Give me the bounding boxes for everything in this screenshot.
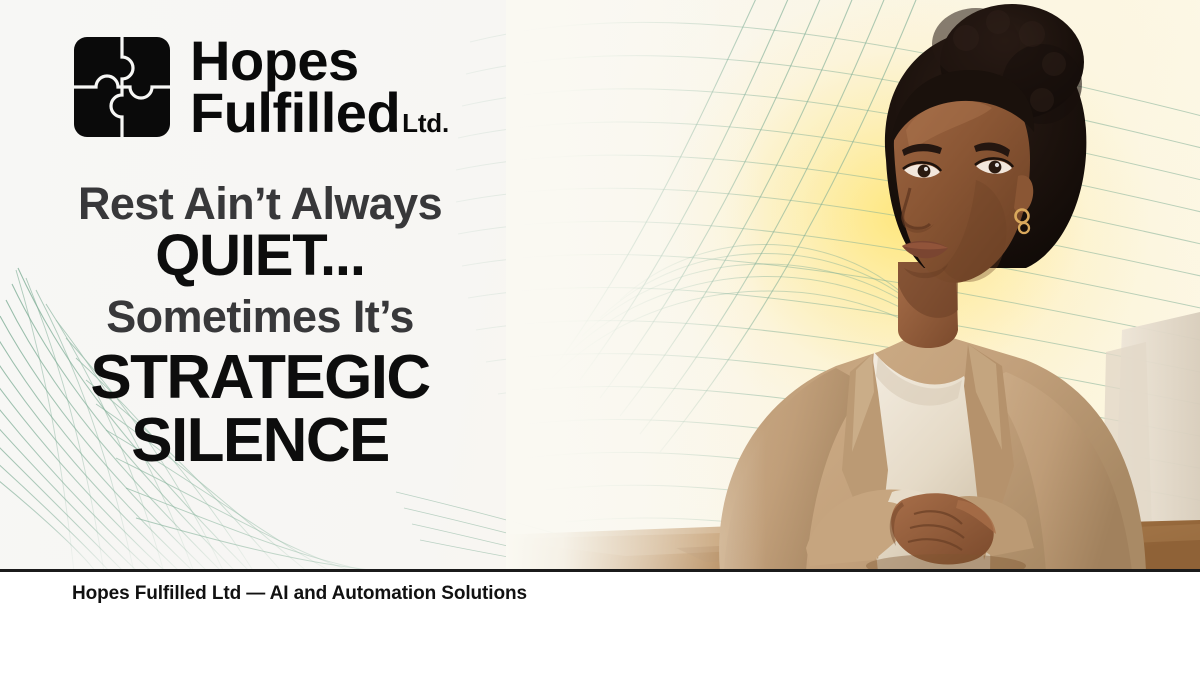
headline-line-3: Sometimes It’s bbox=[0, 293, 520, 340]
headline-line-1: Rest Ain’t Always bbox=[0, 181, 520, 227]
brand-logo[interactable]: Hopes FulfilledLtd. bbox=[72, 33, 449, 141]
headline-block: Rest Ain’t Always QUIET... Sometimes It’… bbox=[0, 181, 520, 473]
brand-suffix: Ltd. bbox=[402, 112, 449, 136]
hero-banner: Hopes FulfilledLtd. Rest Ain’t Always QU… bbox=[0, 0, 1200, 572]
brand-name-line2-row: FulfilledLtd. bbox=[190, 87, 449, 139]
headline-line-4: STRATEGIC bbox=[0, 346, 520, 410]
brand-wordmark: Hopes FulfilledLtd. bbox=[190, 35, 449, 138]
photo-illustration bbox=[506, 0, 1200, 572]
page-root: Hopes FulfilledLtd. Rest Ain’t Always QU… bbox=[0, 0, 1200, 675]
puzzle-square-icon bbox=[72, 33, 172, 141]
hero-photo-woman-at-desk bbox=[506, 0, 1200, 572]
headline-line-2: QUIET... bbox=[0, 226, 520, 287]
caption-text: Hopes Fulfilled Ltd — AI and Automation … bbox=[72, 583, 527, 605]
headline-line-5: SILENCE bbox=[0, 409, 520, 473]
brand-name-line2: Fulfilled bbox=[190, 87, 400, 139]
brand-name-line1: Hopes bbox=[190, 35, 449, 87]
